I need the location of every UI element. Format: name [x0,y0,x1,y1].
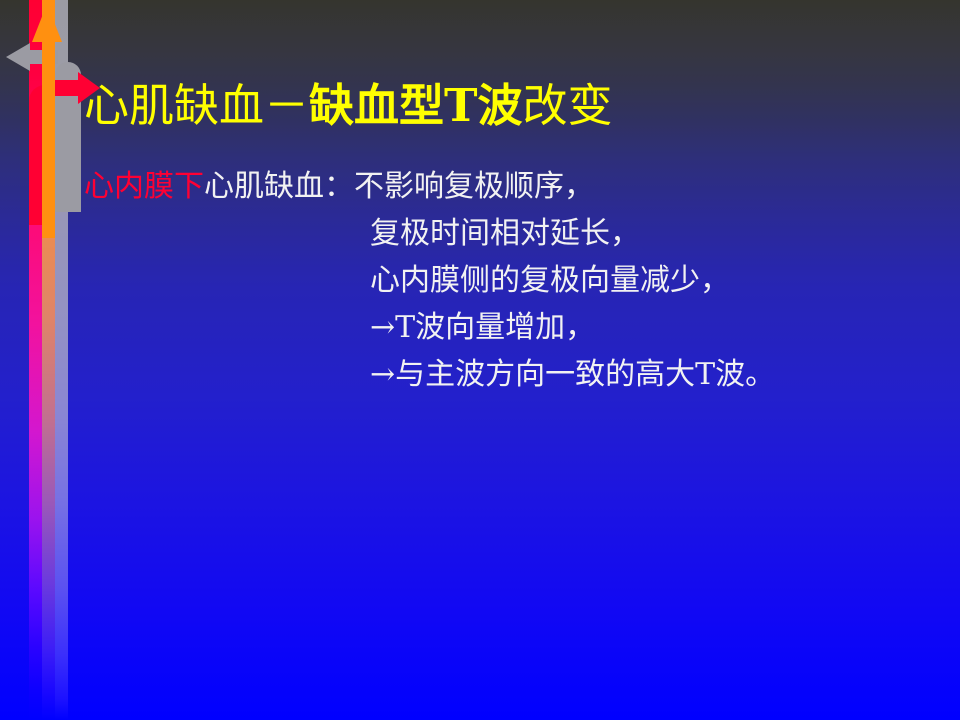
slide-canvas: 心肌缺血－缺血型T波改变 心内膜下心肌缺血：不影响复极顺序， 复极时间相对延长，… [0,0,960,720]
body-line-2-text: 复极时间相对延长， [370,216,640,251]
orange-up-arrow-shaft [42,38,55,238]
body-line-1-text: 心肌缺血：不影响复极顺序， [204,169,594,204]
body-line-1-highlight: 心内膜下 [84,169,204,204]
slide-body: 心内膜下心肌缺血：不影响复极顺序， 复极时间相对延长， 心内膜侧的复极向量减少，… [84,163,775,398]
title-segment-3: 改变 [523,79,613,132]
body-line-1: 心内膜下心肌缺血：不影响复极顺序， [84,163,775,210]
body-line-4-text: →T波向量增加， [370,310,595,345]
body-line-5-text: →与主波方向一致的高大T波。 [370,357,775,392]
gray-left-arrow-icon [6,43,30,71]
body-line-3-text: 心内膜侧的复极向量减少， [370,263,730,298]
body-line-2: 复极时间相对延长， [84,210,775,257]
title-segment-1: 心肌缺血－ [84,79,309,132]
body-line-5: →与主波方向一致的高大T波。 [84,351,775,398]
title-segment-bold: 缺血型T波 [309,79,523,132]
body-line-3: 心内膜侧的复极向量减少， [84,257,775,304]
slide-title: 心肌缺血－缺血型T波改变 [84,82,613,131]
body-line-4: →T波向量增加， [84,304,775,351]
orange-up-arrow-icon [32,4,62,42]
